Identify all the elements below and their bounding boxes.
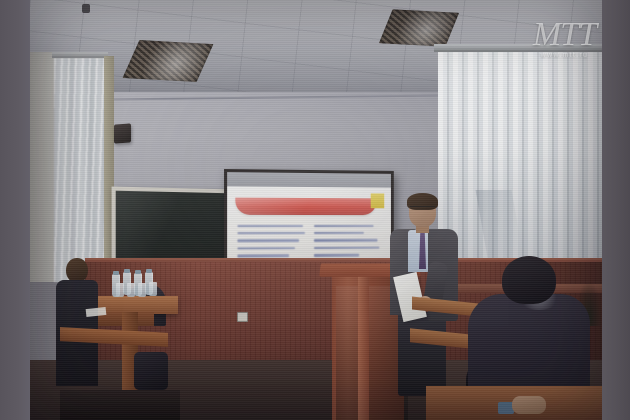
blind-track-rail — [434, 44, 602, 52]
curtain-folds — [54, 58, 106, 282]
drinking-glass — [149, 282, 157, 296]
pillarbox-left — [0, 0, 30, 420]
glasses-icon — [410, 206, 435, 212]
light-specular — [379, 9, 459, 47]
bottle-cap — [146, 269, 152, 273]
foreground-dark-desk — [60, 390, 180, 420]
photo-frame — [30, 0, 602, 420]
ceiling-sensor-icon — [82, 4, 90, 13]
drinking-glass — [138, 283, 146, 297]
attendee-right-hand — [512, 396, 546, 414]
curtain-rail-left — [52, 52, 108, 58]
bottle-cap — [113, 271, 119, 275]
bag-on-floor — [134, 352, 168, 390]
bottle-cap — [124, 269, 130, 273]
attendee-left — [56, 258, 100, 386]
photograph: MTT www.mtt.ru — [0, 0, 630, 420]
drinking-glass — [116, 283, 124, 297]
power-outlet — [237, 312, 248, 322]
presenter-legs — [398, 312, 446, 396]
pillarbox-right — [602, 0, 630, 420]
presenter — [382, 196, 462, 396]
curtain-left — [54, 58, 106, 282]
wall-speaker-icon — [114, 123, 131, 143]
ceiling-light-right — [379, 9, 459, 47]
attendee-right-head — [502, 256, 556, 304]
drinking-glass — [127, 283, 135, 297]
lectern-front-edge — [358, 274, 369, 420]
bottle-cap — [135, 270, 141, 274]
